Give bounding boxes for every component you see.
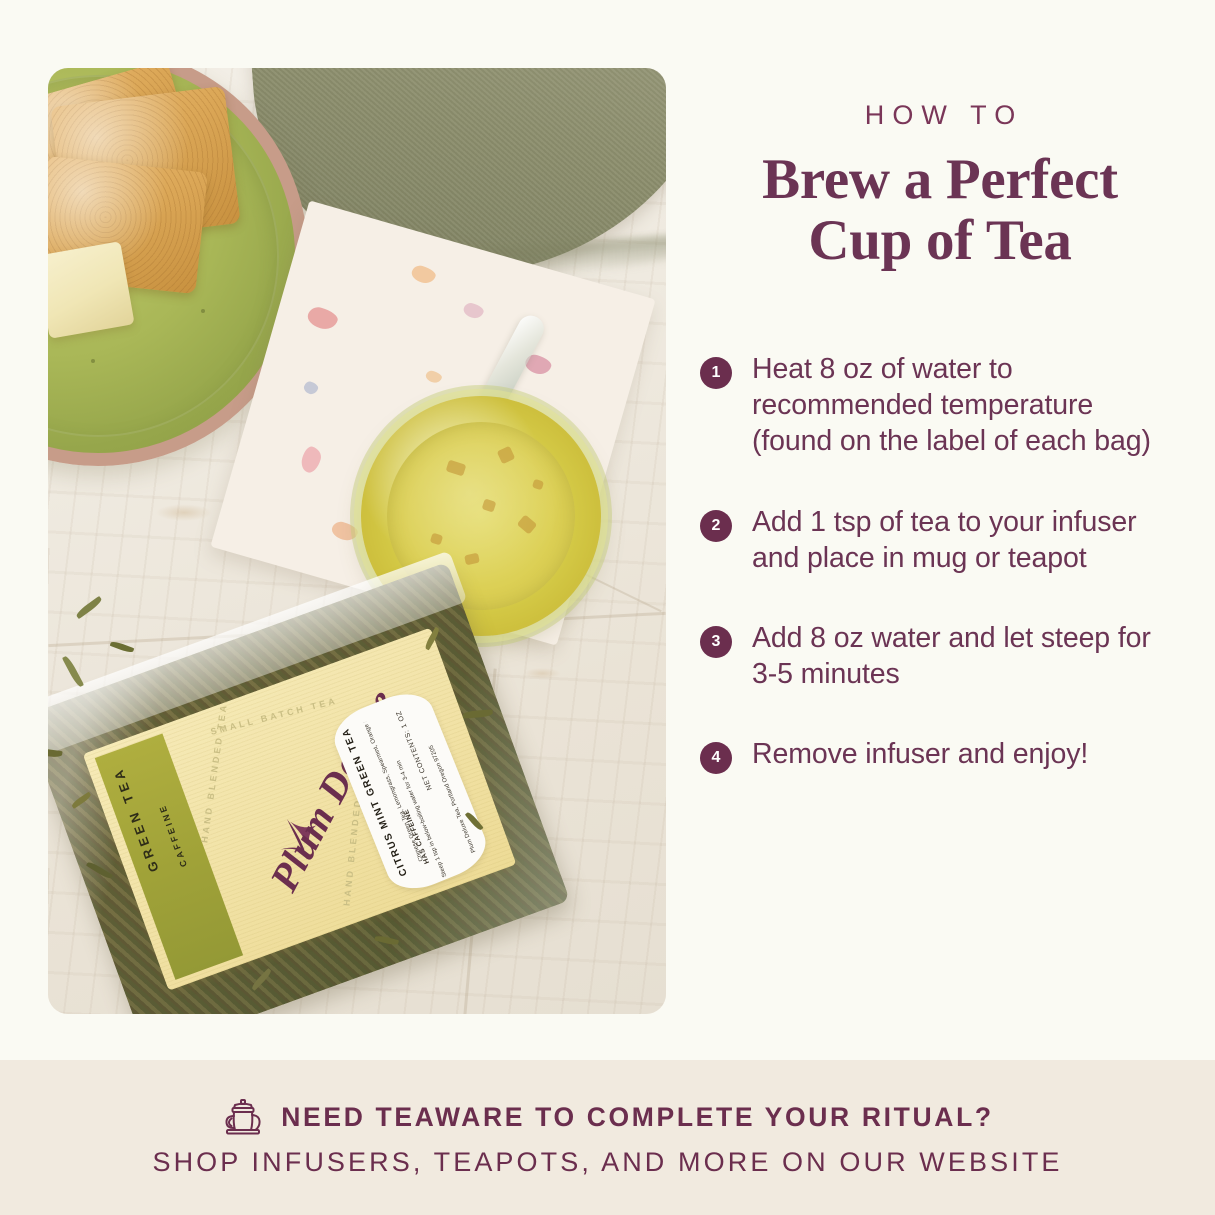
footer-banner: NEED TEAWARE TO COMPLETE YOUR RITUAL? SH… [0, 1060, 1215, 1215]
step-number-badge: 1 [700, 357, 732, 389]
step-text: Add 8 oz water and let steep for 3-5 min… [752, 620, 1180, 692]
arc-text-left: HAND BLENDED TEAS [199, 693, 230, 843]
steps-list: 1 Heat 8 oz of water to recommended temp… [700, 351, 1180, 774]
step-number-badge: 2 [700, 510, 732, 542]
step-text: Remove infuser and enjoy! [752, 736, 1088, 772]
footer-subline: SHOP INFUSERS, TEAPOTS, AND MORE ON OUR … [152, 1147, 1062, 1178]
step-item: 1 Heat 8 oz of water to recommended temp… [700, 351, 1180, 460]
net-contents: NET CONTENTS: 1 OZ [395, 709, 433, 791]
content-column: HOW TO Brew a Perfect Cup of Tea 1 Heat … [700, 100, 1180, 774]
title-line-1: Brew a Perfect [762, 148, 1118, 211]
teapot-icon [221, 1097, 265, 1137]
step-text: Heat 8 oz of water to recommended temper… [752, 351, 1180, 460]
infographic-page: GREEN TEA CAFFEINE HAND BLENDED TEAS SMA… [0, 0, 1215, 1215]
step-item: 2 Add 1 tsp of tea to your infuser and p… [700, 504, 1180, 576]
kicker-label: HOW TO [700, 100, 1180, 131]
page-title: Brew a Perfect Cup of Tea [700, 149, 1180, 271]
footer-line-1-row: NEED TEAWARE TO COMPLETE YOUR RITUAL? [221, 1097, 994, 1137]
title-line-2: Cup of Tea [700, 210, 1180, 271]
footer-headline: NEED TEAWARE TO COMPLETE YOUR RITUAL? [281, 1102, 994, 1133]
cheese-cube [48, 241, 135, 339]
band-line2: CAFFEINE [157, 802, 189, 868]
step-number-badge: 4 [700, 742, 732, 774]
hero-photo: GREEN TEA CAFFEINE HAND BLENDED TEAS SMA… [48, 68, 666, 1014]
step-text: Add 1 tsp of tea to your infuser and pla… [752, 504, 1180, 576]
step-number-badge: 3 [700, 626, 732, 658]
step-item: 3 Add 8 oz water and let steep for 3-5 m… [700, 620, 1180, 692]
origin: Plum Deluxe Tea, Portland Oregon 97205 [429, 744, 478, 853]
step-item: 4 Remove infuser and enjoy! [700, 736, 1180, 774]
